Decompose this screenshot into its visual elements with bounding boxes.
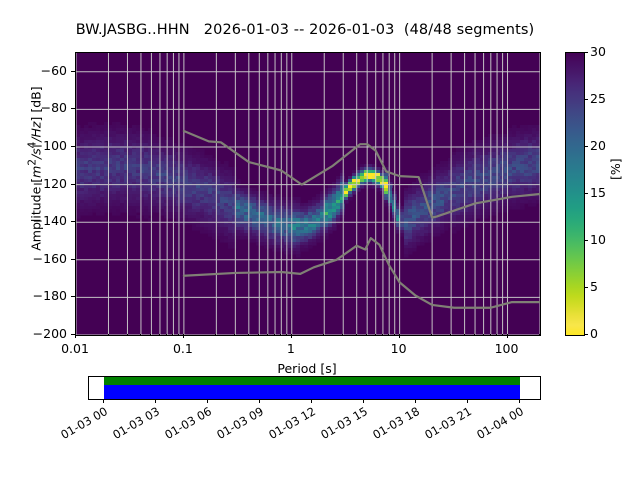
x-tick-mark: [280, 334, 281, 336]
y-tick-mark: [71, 146, 75, 147]
x-tick-mark: [342, 334, 343, 336]
timeline-bands: [89, 377, 540, 399]
x-tick-label: 100: [467, 341, 547, 356]
colorbar-label: [%]: [608, 158, 623, 180]
y-axis-label: Amplitude [m2/s4/Hz] [dB]: [26, 28, 43, 310]
y-tick-mark: [71, 71, 75, 72]
timeline-tick-mark: [519, 399, 520, 403]
x-tick-mark: [388, 334, 389, 336]
timeline-tick-mark: [207, 399, 208, 403]
timeline-tick-mark: [155, 399, 156, 403]
x-axis-label: Period [s]: [75, 361, 539, 376]
colorbar[interactable]: [565, 52, 585, 336]
x-tick-mark: [178, 334, 179, 336]
x-tick-mark: [323, 334, 324, 336]
colorbar-tick-mark: [584, 99, 588, 100]
x-tick-mark: [258, 334, 259, 336]
colorbar-tick-label: 10: [590, 232, 606, 247]
timeline-tick-mark: [363, 399, 364, 403]
x-tick-mark: [108, 334, 109, 336]
timeline-date-label: 01-03 09: [205, 404, 266, 447]
x-tick-mark: [140, 334, 141, 336]
colorbar-tick-mark: [584, 240, 588, 241]
x-tick-mark: [502, 334, 503, 336]
colorbar-tick-label: 5: [590, 279, 598, 294]
timeline-date-label: 01-03 15: [309, 404, 370, 447]
x-tick-mark: [483, 334, 484, 336]
x-tick-mark: [166, 334, 167, 336]
x-tick-mark: [127, 334, 128, 336]
y-tick-mark: [71, 259, 75, 260]
colorbar-gradient: [566, 53, 584, 335]
x-tick-mark: [291, 334, 292, 338]
colorbar-tick-mark: [584, 334, 588, 335]
x-tick-mark: [490, 334, 491, 336]
x-tick-mark: [450, 334, 451, 336]
x-tick-mark: [382, 334, 383, 336]
x-tick-mark: [183, 334, 184, 338]
y-tick-mark: [71, 184, 75, 185]
colorbar-tick-label: 25: [590, 91, 606, 106]
x-tick-mark: [172, 334, 173, 336]
ppsd-svg: [76, 53, 540, 335]
x-tick-mark: [507, 334, 508, 338]
colorbar-tick-label: 30: [590, 44, 606, 59]
timeline-tick-mark: [415, 399, 416, 403]
x-tick-mark: [539, 334, 540, 336]
ppsd-histogram-canvas: [76, 53, 540, 335]
colorbar-tick-label: 15: [590, 185, 606, 200]
x-tick-mark: [496, 334, 497, 336]
x-tick-mark: [75, 334, 76, 338]
x-tick-mark: [248, 334, 249, 336]
timeline-date-label: 01-03 00: [49, 404, 110, 447]
data-coverage-timeline[interactable]: [88, 376, 541, 400]
timeline-tick-mark: [259, 399, 260, 403]
colorbar-tick-label: 0: [590, 326, 598, 341]
x-tick-mark: [356, 334, 357, 336]
x-tick-mark: [394, 334, 395, 336]
x-tick-label: 0.1: [143, 341, 223, 356]
colorbar-tick-mark: [584, 193, 588, 194]
timeline-date-label: 01-04 00: [465, 404, 526, 447]
x-tick-label: 10: [359, 341, 439, 356]
x-tick-label: 1: [251, 341, 331, 356]
colorbar-tick-mark: [584, 287, 588, 288]
timeline-date-label: 01-03 18: [361, 404, 422, 447]
timeline-date-label: 01-03 03: [101, 404, 162, 447]
page-title: BW.JASBG..HHN 2026-01-03 -- 2026-01-03 (…: [0, 22, 610, 38]
x-tick-mark: [375, 334, 376, 336]
y-tick-mark: [71, 221, 75, 222]
x-tick-mark: [274, 334, 275, 336]
ppsd-plot-area[interactable]: [75, 52, 541, 336]
colorbar-tick-mark: [584, 146, 588, 147]
timeline-tick-mark: [103, 399, 104, 403]
x-tick-mark: [234, 334, 235, 336]
y-tick-mark: [71, 108, 75, 109]
timeline-tick-mark: [311, 399, 312, 403]
timeline-date-label: 01-03 06: [153, 404, 214, 447]
x-tick-mark: [150, 334, 151, 336]
timeline-band-blue: [104, 385, 520, 399]
y-tick-mark: [71, 296, 75, 297]
timeline-date-label: 01-03 12: [257, 404, 318, 447]
x-tick-label: 0.01: [35, 341, 115, 356]
x-tick-mark: [474, 334, 475, 336]
x-tick-mark: [431, 334, 432, 336]
x-tick-mark: [215, 334, 216, 336]
x-tick-mark: [464, 334, 465, 336]
x-tick-mark: [159, 334, 160, 336]
timeline-tick-mark: [467, 399, 468, 403]
ppsd-figure: BW.JASBG..HHN 2026-01-03 -- 2026-01-03 (…: [0, 0, 640, 480]
colorbar-tick-label: 20: [590, 138, 606, 153]
timeline-date-label: 01-03 21: [413, 404, 474, 447]
y-tick-label: −200: [9, 326, 67, 341]
colorbar-tick-mark: [584, 52, 588, 53]
x-tick-mark: [267, 334, 268, 336]
x-tick-mark: [286, 334, 287, 336]
timeline-band-green: [104, 377, 520, 385]
x-tick-mark: [399, 334, 400, 338]
x-tick-mark: [366, 334, 367, 336]
